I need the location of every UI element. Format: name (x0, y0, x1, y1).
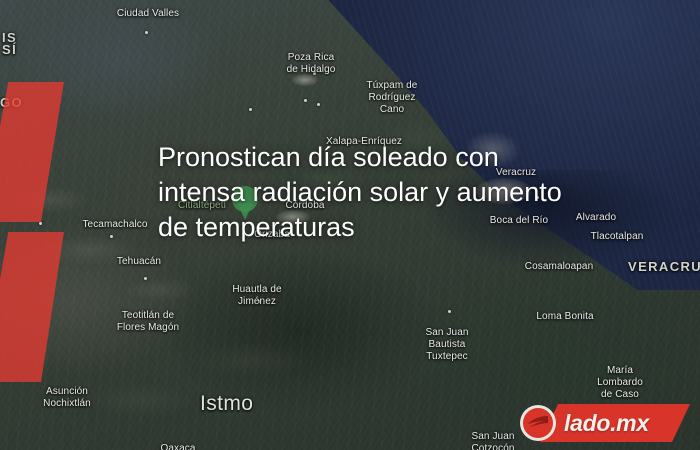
map-label: Oaxaca (160, 443, 195, 450)
map-label: Tehuacán (117, 256, 161, 268)
logo-text: lado.mx (564, 410, 649, 436)
swoosh-bird-icon (520, 405, 556, 441)
map-label: Loma Bonita (536, 311, 593, 323)
map-label: San Juan Cotzocón (471, 431, 514, 450)
city-dot (144, 277, 147, 280)
city-dot (110, 235, 113, 238)
screenshot-root: Ciudad VallesIS SÍGOPoza Rica de Hidalgo… (0, 0, 700, 450)
map-label: Istmo (200, 392, 253, 416)
map-label: Asunción Nochixtlán (43, 386, 91, 410)
map-label: Cosamaloapan (525, 261, 593, 273)
city-dot (145, 31, 148, 34)
map-label: IS SÍ (2, 32, 17, 56)
map-label: Huautla de Jiménez (232, 284, 281, 308)
city-dot (39, 222, 42, 225)
map-label: Poza Rica de Hidalgo (287, 52, 336, 76)
city-dot (448, 310, 451, 313)
map-label: Tlacotalpan (591, 231, 644, 243)
map-label: San Juan Bautista Tuxtepec (425, 327, 468, 363)
map-label: VERACRUZ (628, 261, 700, 273)
map-label: Túxpam de Rodríguez Cano (367, 80, 418, 116)
city-dot (317, 103, 320, 106)
map-label: Teotitlán de Flores Magón (117, 310, 179, 334)
site-logo[interactable]: lado.mx (520, 402, 690, 444)
map-label: María Lombardo de Caso (597, 365, 643, 401)
city-dot (304, 99, 307, 102)
map-label: Tecamachalco (82, 219, 147, 231)
city-dot (249, 108, 252, 111)
map-label: Ciudad Valles (117, 8, 179, 20)
page-title: Pronostican día soleado con intensa radi… (158, 140, 588, 245)
